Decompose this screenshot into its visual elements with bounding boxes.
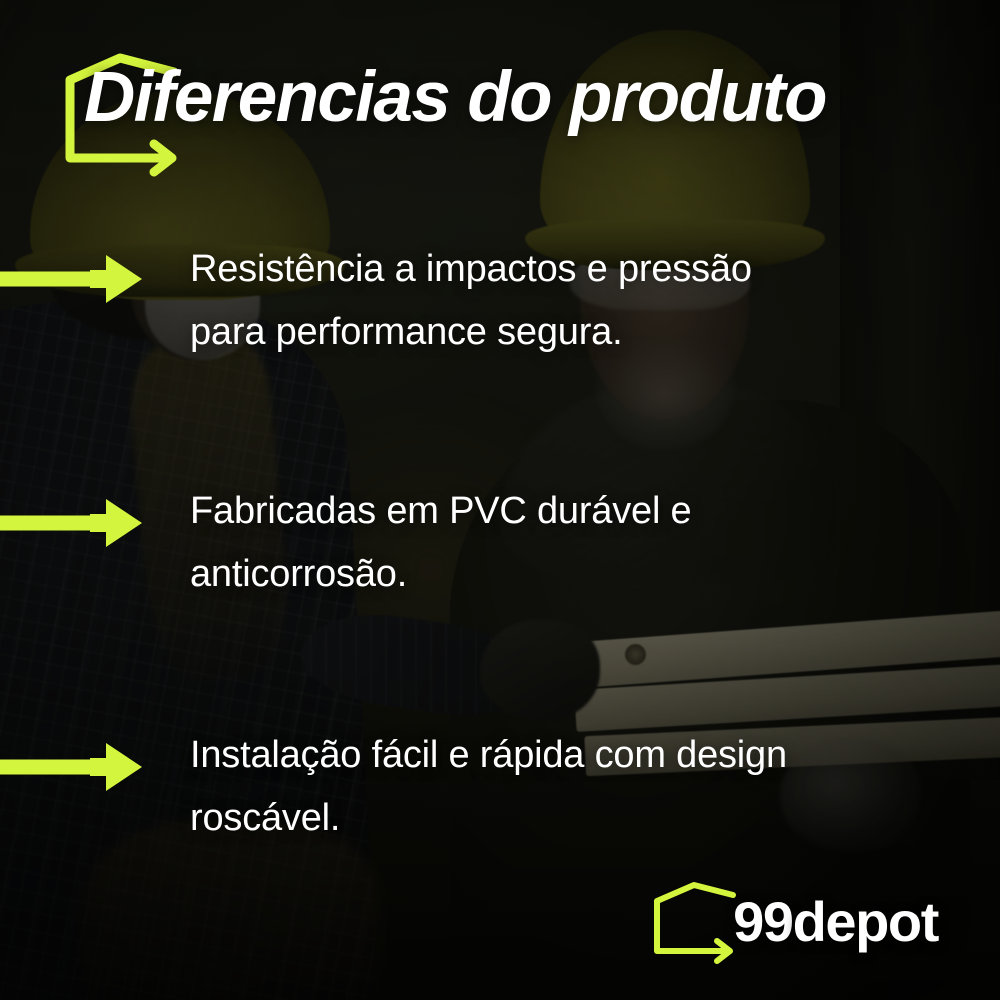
brand-logo[interactable]: 99depot bbox=[651, 880, 938, 964]
title-block: Diferencias do produto bbox=[0, 0, 1000, 200]
page-title: Diferencias do produto bbox=[84, 62, 826, 133]
house-bracket-arrow-icon bbox=[651, 883, 739, 961]
arrow-right-icon bbox=[0, 496, 146, 550]
arrow-right-icon bbox=[0, 252, 146, 306]
brand-logo-word: depot bbox=[793, 890, 938, 953]
arrow-right-icon bbox=[0, 740, 146, 794]
brand-logo-text: 99depot bbox=[733, 894, 938, 950]
content-layer: Diferencias do produto Resistência a imp… bbox=[0, 0, 1000, 1000]
list-item-label: Fabricadas em PVC durável e anticorrosão… bbox=[190, 480, 790, 606]
list-item-label: Instalação fácil e rápida com design ros… bbox=[190, 724, 790, 850]
poster-canvas: Diferencias do produto Resistência a imp… bbox=[0, 0, 1000, 1000]
brand-logo-number: 99 bbox=[733, 890, 793, 953]
list-item-label: Resistência a impactos e pressão para pe… bbox=[190, 238, 790, 364]
